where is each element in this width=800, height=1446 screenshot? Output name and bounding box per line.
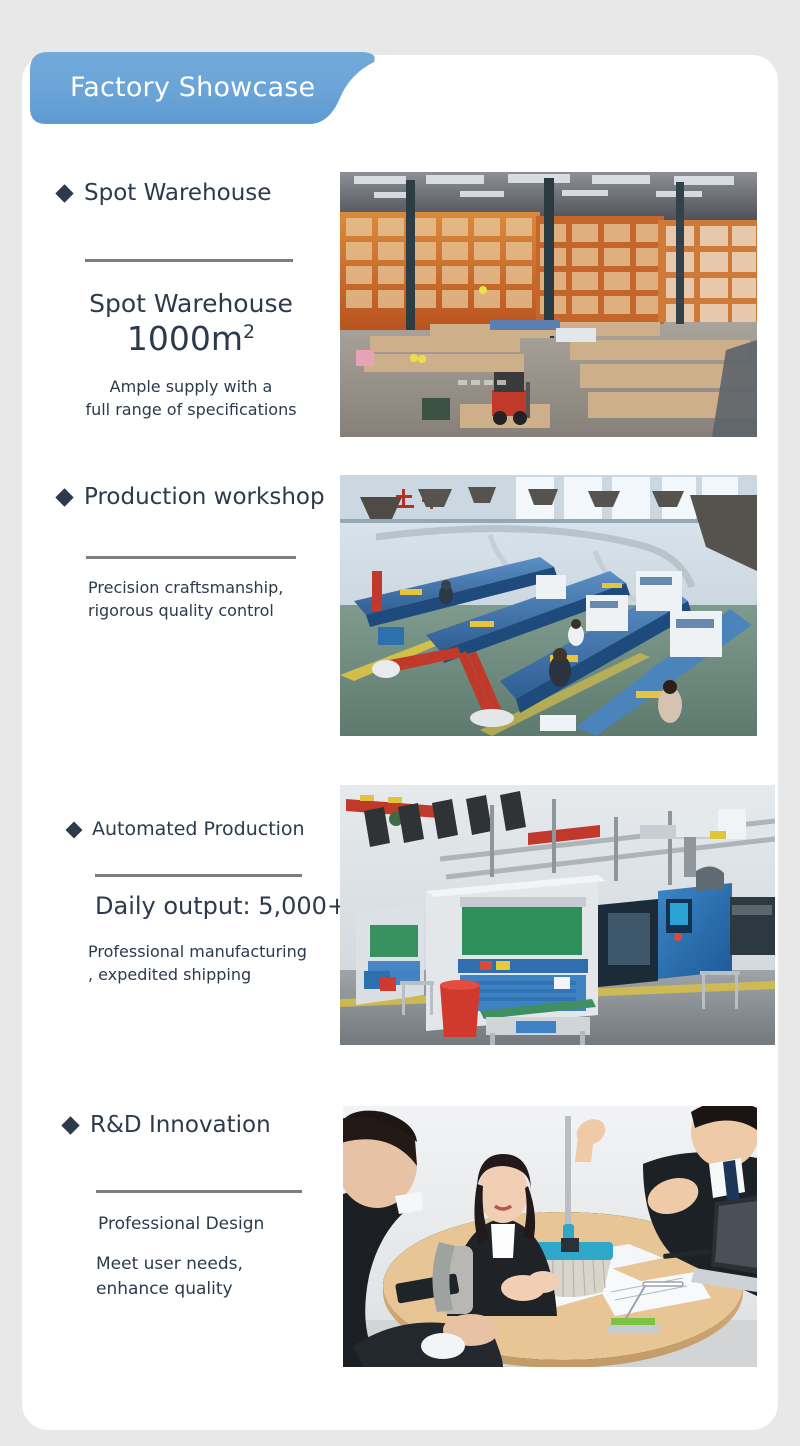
section-heading-row: Automated Production <box>68 820 348 839</box>
section-heading-row: Spot Warehouse <box>58 182 308 205</box>
section-rd-innovation: R&D Innovation <box>64 1114 344 1137</box>
divider-rd-innovation <box>96 1190 302 1193</box>
diamond-bullet-icon <box>55 488 73 506</box>
workshop-image <box>340 475 757 736</box>
photo-automated-production <box>340 785 775 1045</box>
stat-value-spot-warehouse: 1000m2 <box>60 320 322 358</box>
stat-line-automated-production: Daily output: 5,000+ <box>95 892 347 921</box>
stat-block-spot-warehouse: Spot Warehouse 1000m2 Ample supply with … <box>60 288 322 421</box>
diamond-bullet-icon <box>61 1116 79 1134</box>
stat-label-spot-warehouse: Spot Warehouse <box>60 288 322 320</box>
automation-image <box>340 785 775 1045</box>
divider-automated-production <box>95 874 302 877</box>
description-spot-warehouse: Ample supply with a full range of specif… <box>60 375 322 421</box>
section-spot-warehouse: Spot Warehouse <box>58 182 308 205</box>
section-heading-row: R&D Innovation <box>64 1114 344 1137</box>
photo-spot-warehouse <box>340 172 757 437</box>
header-title: Factory Showcase <box>70 72 315 103</box>
section-heading-label: Automated Production <box>92 820 305 839</box>
section-heading-label: R&D Innovation <box>90 1114 271 1137</box>
factory-showcase-page: Factory Showcase Spot Warehouse Spot War… <box>0 0 800 1446</box>
diamond-bullet-icon <box>55 184 73 202</box>
divider-spot-warehouse <box>85 259 293 262</box>
header-tab: Factory Showcase <box>30 52 380 130</box>
photo-production-workshop <box>340 475 757 736</box>
photo-rd-innovation <box>343 1106 757 1367</box>
description-production-workshop: Precision craftsmanship, rigorous qualit… <box>88 576 318 622</box>
section-production-workshop: Production workshop <box>58 486 338 509</box>
meeting-image <box>343 1106 757 1367</box>
section-heading-row: Production workshop <box>58 486 338 509</box>
stat-number: 1000m <box>127 319 243 358</box>
section-heading-label: Spot Warehouse <box>84 182 271 205</box>
diamond-bullet-icon <box>66 821 83 838</box>
description-rd-innovation: Meet user needs, enhance quality <box>96 1252 316 1301</box>
sub-label-rd-innovation: Professional Design <box>98 1213 264 1235</box>
description-automated-production: Professional manufacturing , expedited s… <box>88 940 333 986</box>
section-heading-label: Production workshop <box>84 486 325 509</box>
warehouse-image <box>340 172 757 437</box>
stat-unit-superscript: 2 <box>243 321 255 343</box>
red-bin <box>440 980 480 1037</box>
divider-production-workshop <box>86 556 296 559</box>
section-automated-production: Automated Production <box>68 820 348 839</box>
